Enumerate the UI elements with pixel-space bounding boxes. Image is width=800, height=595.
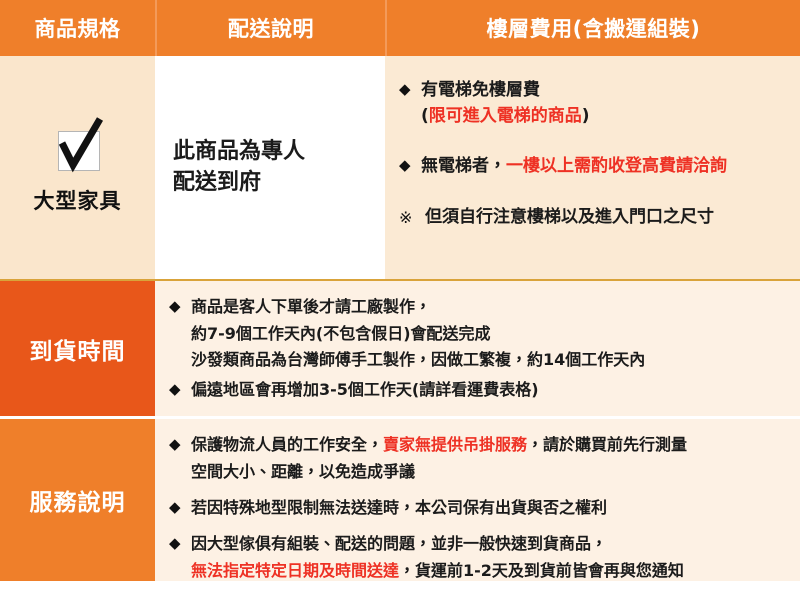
bullet-text: 保護物流人員的工作安全，賣家無提供吊掛服務，請於購買前先行測量 (191, 433, 790, 457)
bullet-subline: 約7-9個工作天內(不包含假日)會配送完成 (191, 322, 790, 346)
paren-close: ) (582, 106, 590, 126)
header-cell-delivery-note: 配送說明 (155, 0, 385, 56)
row-label-text: 服務說明 (30, 483, 126, 517)
table-row-arrival-time: 到貨時間 ◆ 商品是客人下單後才請工廠製作， 約7-9個工作天內(不包含假日)會… (0, 279, 800, 416)
bullet-text-plain-2: ，請於購買前先行測量 (527, 435, 687, 454)
bullet-text: 因大型傢俱有組裝、配送的問題，並非一般快速到貨商品， (191, 532, 790, 556)
row1-floor-fee-cell: ◆ 有電梯免樓層費 (限可進入電梯的商品) ◆ 無電梯者，一樓以上需酌收登高費請… (385, 56, 800, 279)
bullet-text-highlight: 賣家無提供吊掛服務 (383, 435, 527, 454)
header-cell-floor-fee: 樓層費用(含搬運組裝) (385, 0, 800, 56)
diamond-bullet-icon: ◆ (169, 496, 191, 519)
diamond-bullet-icon: ◆ (169, 378, 191, 401)
table-row-large-furniture: 大型家具 此商品為專人 配送到府 ◆ 有電梯免樓層費 (限可進入電梯的商品) ◆… (0, 56, 800, 279)
spacer (399, 189, 790, 205)
bullet-subline-plain: ，貨運前1-2天及到貨前皆會再與您通知 (399, 561, 684, 580)
bullet-text: 無電梯者，一樓以上需酌收登高費請洽詢 (421, 154, 790, 180)
row-label-text: 到貨時間 (30, 332, 126, 366)
diamond-bullet-icon: ◆ (399, 78, 421, 101)
reference-mark-icon: ※ (399, 205, 425, 229)
bullet-text: 商品是客人下單後才請工廠製作， (191, 295, 790, 319)
bullet-item: ◆ 因大型傢俱有組裝、配送的問題，並非一般快速到貨商品， (169, 532, 790, 556)
bullet-text-plain: 無電梯者， (421, 156, 506, 176)
spacer (399, 138, 790, 154)
row1-delivery-note-cell: 此商品為專人 配送到府 (155, 56, 385, 279)
diamond-bullet-icon: ◆ (169, 295, 191, 318)
table-row-service-note: 服務說明 ◆ 保護物流人員的工作安全，賣家無提供吊掛服務，請於購買前先行測量 空… (0, 416, 800, 581)
delivery-note-text: 此商品為專人 配送到府 (173, 137, 305, 198)
diamond-bullet-icon: ◆ (169, 433, 191, 456)
delivery-note-line2: 配送到府 (173, 168, 305, 198)
bullet-item: ※ 但須自行注意樓梯以及進入門口之尺寸 (399, 205, 790, 231)
bullet-item: ◆ 無電梯者，一樓以上需酌收登高費請洽詢 (399, 154, 790, 180)
bullet-line2-highlight: 限可進入電梯的商品 (429, 106, 582, 126)
row-label-arrival-time: 到貨時間 (0, 281, 155, 416)
row-label-service-note: 服務說明 (0, 419, 155, 581)
header-cell-product-spec: 商品規格 (0, 0, 155, 56)
bullet-item: ◆ 商品是客人下單後才請工廠製作， (169, 295, 790, 319)
checkbox-checked-icon (54, 121, 102, 169)
bullet-text: 偏遠地區會再增加3-5個工作天(請詳看運費表格) (191, 378, 790, 402)
row3-content-cell: ◆ 保護物流人員的工作安全，賣家無提供吊掛服務，請於購買前先行測量 空間大小、距… (155, 419, 800, 581)
delivery-note-line1: 此商品為專人 (173, 137, 305, 167)
bullet-subline: 空間大小、距離，以免造成爭議 (191, 460, 790, 484)
bullet-item: ◆ 保護物流人員的工作安全，賣家無提供吊掛服務，請於購買前先行測量 (169, 433, 790, 457)
row-label-text: 大型家具 (34, 185, 122, 215)
bullet-subline-highlight: 無法指定特定日期及時間送達 (191, 561, 399, 580)
bullet-line1: 有電梯免樓層費 (421, 80, 540, 100)
bullet-text: 有電梯免樓層費 (限可進入電梯的商品) (421, 78, 790, 129)
bullet-text: 但須自行注意樓梯以及進入門口之尺寸 (425, 205, 790, 231)
bullet-subline: 沙發類商品為台灣師傅手工製作，因做工繁複，約14個工作天內 (191, 348, 790, 372)
bullet-item: ◆ 有電梯免樓層費 (限可進入電梯的商品) (399, 78, 790, 129)
bullet-subline: 無法指定特定日期及時間送達，貨運前1-2天及到貨前皆會再與您通知 (191, 559, 790, 583)
row-label-large-furniture: 大型家具 (0, 56, 155, 279)
bullet-item: ◆ 若因特殊地型限制無法送達時，本公司保有出貨與否之權利 (169, 496, 790, 520)
bullet-item: ◆ 偏遠地區會再增加3-5個工作天(請詳看運費表格) (169, 378, 790, 402)
diamond-bullet-icon: ◆ (169, 532, 191, 555)
shipping-info-table: 商品規格 配送說明 樓層費用(含搬運組裝) 大型家具 此商品為專人 配送到府 ◆ (0, 0, 800, 595)
diamond-bullet-icon: ◆ (399, 154, 421, 177)
row2-content-cell: ◆ 商品是客人下單後才請工廠製作， 約7-9個工作天內(不包含假日)會配送完成 … (155, 281, 800, 416)
bullet-text-highlight: 一樓以上需酌收登高費請洽詢 (506, 156, 727, 176)
table-header-row: 商品規格 配送說明 樓層費用(含搬運組裝) (0, 0, 800, 56)
bullet-text: 若因特殊地型限制無法送達時，本公司保有出貨與否之權利 (191, 496, 790, 520)
bullet-text-plain: 保護物流人員的工作安全， (191, 435, 383, 454)
paren-open: ( (421, 106, 429, 126)
